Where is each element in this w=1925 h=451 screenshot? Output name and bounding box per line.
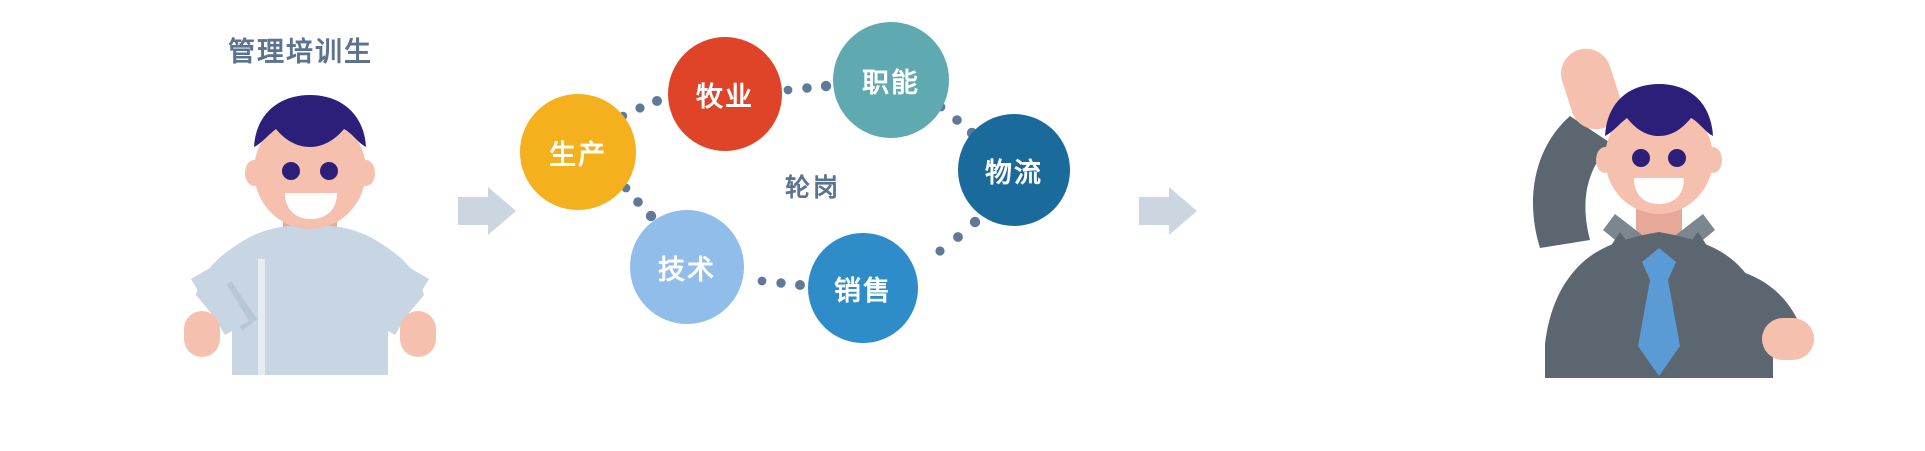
node-logistics[interactable]: 物流: [958, 114, 1070, 226]
node-sales-label: 销售: [834, 269, 892, 308]
node-function-label: 职能: [862, 61, 920, 100]
node-production-label: 生产: [549, 133, 607, 172]
node-logistics-label: 物流: [985, 151, 1043, 190]
node-sales[interactable]: 销售: [808, 233, 918, 343]
node-husbandry-label: 牧业: [696, 75, 754, 114]
node-function[interactable]: 职能: [833, 22, 949, 138]
manager-eye-left: [1632, 149, 1650, 167]
manager-figure: [1470, 18, 1830, 378]
node-husbandry[interactable]: 牧业: [668, 37, 782, 151]
infographic-canvas: 管理培训生: [0, 0, 1925, 451]
manager-arm-raised: [1533, 116, 1612, 248]
node-technology[interactable]: 技术: [630, 210, 744, 324]
manager-hand-lowered: [1762, 318, 1814, 360]
node-technology-label: 技术: [658, 248, 716, 287]
manager-ear-right: [1704, 147, 1722, 173]
rotation-center-label: 轮岗: [785, 168, 841, 204]
node-production[interactable]: 生产: [520, 94, 636, 210]
manager-eye-right: [1668, 149, 1686, 167]
arrow-right-icon: [1139, 187, 1197, 235]
manager-ear-left: [1596, 147, 1614, 173]
